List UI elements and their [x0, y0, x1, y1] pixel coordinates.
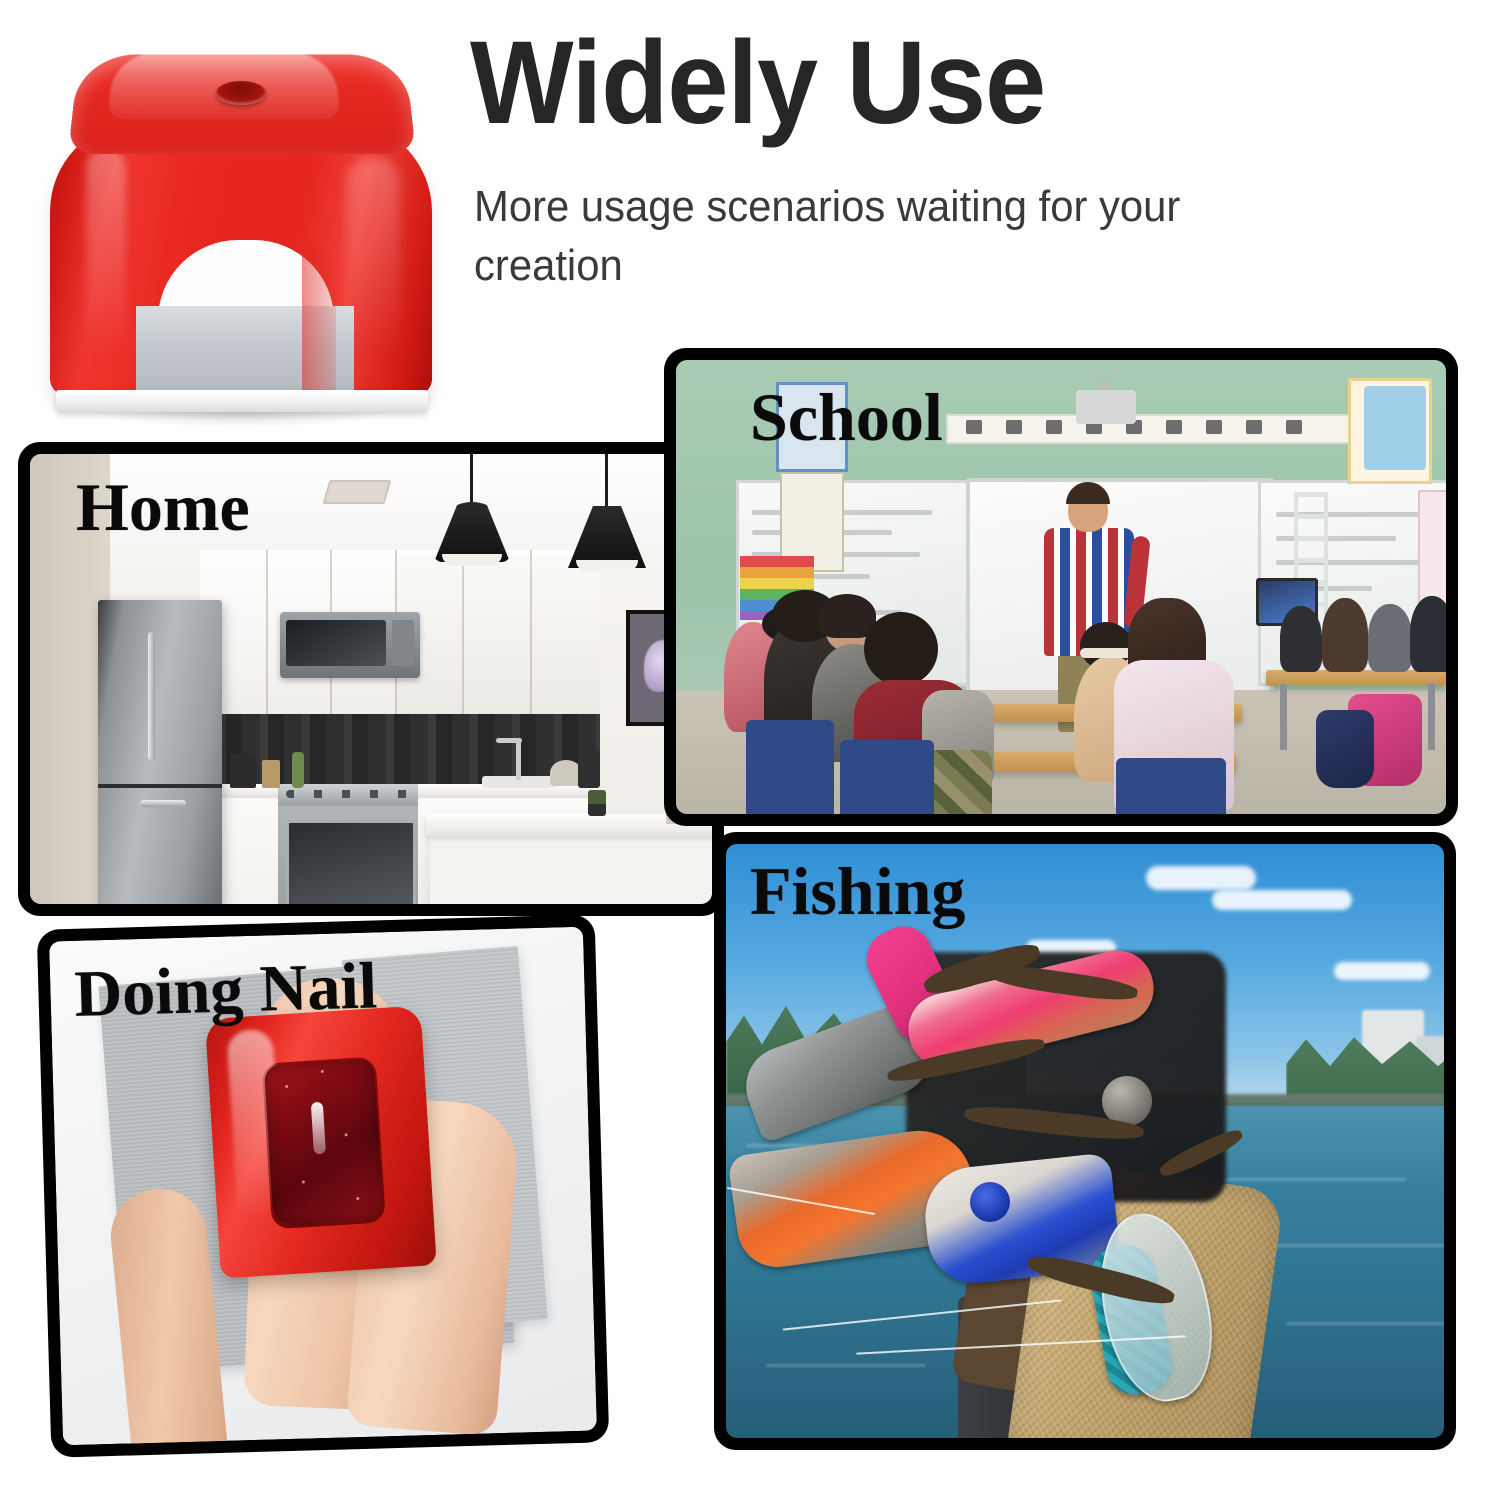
student-hair-afro [864, 612, 938, 686]
product-image-red-magnet [30, 28, 450, 418]
alphabet-card [1046, 420, 1062, 434]
cloud [1212, 890, 1352, 910]
upper-cabinets-right [395, 554, 600, 714]
island-plant-pot [588, 804, 606, 816]
microwave-keypad [392, 620, 414, 666]
scenario-panel-doing-nail[interactable]: Doing Nail [37, 914, 610, 1457]
refrigerator [98, 600, 222, 904]
student-desk [1266, 670, 1446, 686]
scenario-panel-fishing[interactable]: Fishing [714, 832, 1456, 1450]
page-title: Widely Use [470, 20, 1045, 147]
desk-leg [1428, 684, 1435, 750]
cabinet-seam [530, 550, 532, 714]
counter-item-appliance [578, 750, 600, 788]
magnet-gloss-right [346, 158, 400, 358]
alphabet-card [1166, 420, 1182, 434]
student [1410, 596, 1446, 672]
scenario-panel-home[interactable]: Home [18, 442, 724, 916]
faucet-stem [516, 740, 521, 780]
counter-item-bottle [292, 752, 304, 788]
magnet-gloss-left [86, 148, 126, 358]
nail-sparkle [285, 1085, 288, 1088]
student [1280, 606, 1322, 672]
infographic-canvas: Widely Use More usage scenarios waiting … [0, 0, 1500, 1500]
pendant-cord-right [605, 454, 608, 512]
magnet-base-plate [56, 390, 428, 412]
magnet-illustration [30, 28, 450, 418]
water-ripple [766, 1364, 926, 1367]
cloud [1334, 962, 1430, 980]
panel-label-home: Home [76, 468, 250, 547]
student [1368, 604, 1412, 672]
magnet-arch-inner-shadow [302, 240, 336, 396]
page-subtitle: More usage scenarios waiting for your cr… [474, 178, 1272, 296]
counter-item-cutting-board [262, 760, 280, 788]
alphabet-card [1246, 420, 1262, 434]
nail-sparkle [302, 1181, 305, 1184]
desk-leg [1280, 684, 1287, 750]
refrigerator-handle-lower [140, 800, 186, 807]
panel-label-school: School [750, 378, 943, 457]
scenario-panel-school[interactable]: School [664, 348, 1458, 826]
cloud [1146, 866, 1256, 890]
cabinet-seam [462, 550, 464, 714]
nail-sparkle [356, 1197, 359, 1200]
alphabet-card [1286, 420, 1302, 434]
wall-poster-cyan [1364, 386, 1426, 470]
cabinet-seam [266, 550, 268, 714]
student [1322, 598, 1368, 672]
refrigerator-door-split [98, 784, 222, 788]
pendant-lamp-left-interior [442, 554, 502, 566]
nail-sparkle [321, 1070, 324, 1073]
chair-back [840, 740, 934, 814]
faucet-spout [496, 738, 522, 743]
ceiling-vent [323, 480, 392, 504]
nail-sparkle [345, 1133, 348, 1136]
magnet-mounting-hole [216, 81, 266, 105]
chair-back [1116, 758, 1226, 814]
alphabet-card [966, 420, 982, 434]
panel-label-doing-nail: Doing Nail [74, 948, 379, 1032]
pendant-cord-left [470, 454, 473, 508]
counter-item-coffeemaker [230, 754, 256, 788]
lure-eye-spot [970, 1182, 1010, 1222]
ceiling-projector [1076, 390, 1136, 424]
backpack-navy [1316, 710, 1374, 788]
water-ripple [1286, 1322, 1444, 1325]
oven-door [286, 820, 416, 904]
microwave-door [286, 620, 386, 666]
magnet-drop-shadow [90, 412, 390, 428]
chair-back [746, 720, 834, 814]
alphabet-card [1206, 420, 1222, 434]
refrigerator-handle-upper [148, 632, 155, 760]
fishing-photo [726, 844, 1444, 1438]
alphabet-card [1006, 420, 1022, 434]
panel-label-fishing: Fishing [750, 852, 965, 931]
wall-poster-pink [1418, 490, 1446, 604]
pendant-lamp-right-interior [576, 560, 638, 572]
range-knobs [286, 790, 410, 798]
